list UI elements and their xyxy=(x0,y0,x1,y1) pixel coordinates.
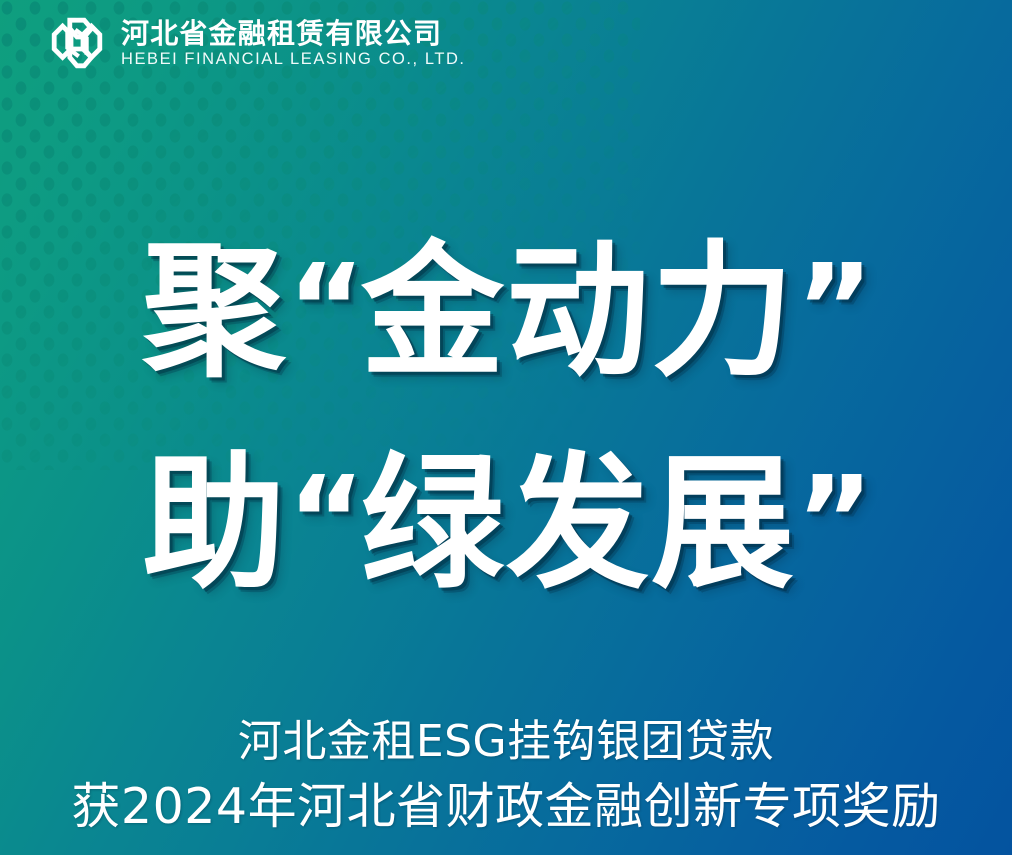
headline-line-2-mid: 绿发展 xyxy=(361,438,796,608)
headline-line-2-close-quote: ” xyxy=(796,449,870,590)
company-name-en: HEBEI FINANCIAL LEASING CO., LTD. xyxy=(121,50,466,69)
headline-line-1: 聚“金动力” xyxy=(0,204,1012,420)
headline-line-2-pre: 助 xyxy=(142,438,287,608)
company-name-cn: 河北省金融租赁有限公司 xyxy=(121,19,466,49)
brand-text: 河北省金融租赁有限公司 HEBEI FINANCIAL LEASING CO.,… xyxy=(121,17,466,70)
brand-lockup: 河北省金融租赁有限公司 HEBEI FINANCIAL LEASING CO.,… xyxy=(47,12,466,74)
company-logo-icon xyxy=(47,13,107,73)
headline-block: 聚“金动力” 助“绿发展” xyxy=(0,206,1012,629)
subtitle-line-2: 获2024年河北省财政金融创新专项奖励 xyxy=(0,773,1012,841)
headline-line-1-mid: 金动力 xyxy=(361,226,796,396)
headline-line-2: 助“绿发展” xyxy=(0,416,1012,632)
headline-line-1-open-quote: “ xyxy=(287,238,361,379)
subtitle-block: 河北金租ESG挂钩银团贷款 获2024年河北省财政金融创新专项奖励 xyxy=(0,710,1012,841)
headline-line-1-close-quote: ” xyxy=(796,238,870,379)
headline-line-2-open-quote: “ xyxy=(287,449,361,590)
headline-line-1-pre: 聚 xyxy=(142,226,287,396)
poster-canvas: 河北省金融租赁有限公司 HEBEI FINANCIAL LEASING CO.,… xyxy=(0,0,1012,855)
subtitle-line-1: 河北金租ESG挂钩银团贷款 xyxy=(0,710,1012,774)
